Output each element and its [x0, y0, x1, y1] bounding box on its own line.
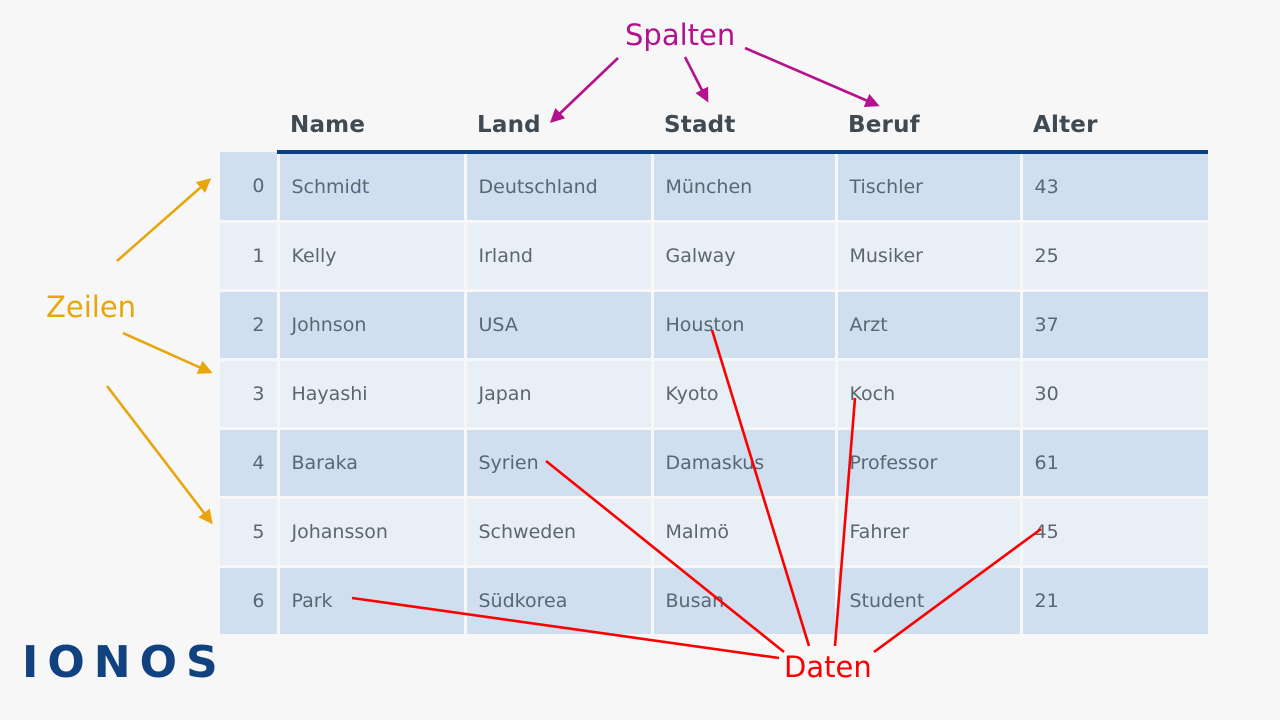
cell-alter[interactable]: 43: [1021, 152, 1208, 222]
cell-stadt[interactable]: Galway: [652, 222, 836, 291]
cell-land[interactable]: Deutschland: [465, 152, 652, 222]
cell-land[interactable]: Irland: [465, 222, 652, 291]
cell-name[interactable]: Hayashi: [278, 360, 465, 429]
dataframe-table: Name Land Stadt Beruf Alter 0 Schmidt De…: [220, 96, 1208, 634]
annotation-label-spalten: Spalten: [625, 18, 735, 52]
annotation-label-zeilen: Zeilen: [46, 290, 136, 324]
cell-stadt[interactable]: Busan: [652, 567, 836, 635]
zeilen-arrow-to-row-3: [123, 333, 210, 372]
column-header-beruf[interactable]: Beruf: [836, 96, 1021, 152]
cell-name[interactable]: Johansson: [278, 498, 465, 567]
cell-name[interactable]: Kelly: [278, 222, 465, 291]
column-header-name[interactable]: Name: [278, 96, 465, 152]
zeilen-arrow-to-row-0: [117, 180, 209, 261]
cell-alter[interactable]: 45: [1021, 498, 1208, 567]
slide-canvas: Name Land Stadt Beruf Alter 0 Schmidt De…: [0, 0, 1280, 720]
cell-land[interactable]: Japan: [465, 360, 652, 429]
cell-name[interactable]: Baraka: [278, 429, 465, 498]
cell-beruf[interactable]: Tischler: [836, 152, 1021, 222]
table-row[interactable]: 2 Johnson USA Houston Arzt 37: [220, 291, 1208, 360]
table-header-row: Name Land Stadt Beruf Alter: [220, 96, 1208, 152]
row-index-cell: 6: [220, 567, 278, 635]
spalten-arrow-to-stadt: [685, 57, 707, 100]
column-header-stadt[interactable]: Stadt: [652, 96, 836, 152]
zeilen-arrow-group: [107, 180, 211, 522]
cell-beruf[interactable]: Student: [836, 567, 1021, 635]
cell-land[interactable]: Südkorea: [465, 567, 652, 635]
cell-alter[interactable]: 21: [1021, 567, 1208, 635]
table-row[interactable]: 1 Kelly Irland Galway Musiker 25: [220, 222, 1208, 291]
cell-stadt[interactable]: München: [652, 152, 836, 222]
row-index-cell: 0: [220, 152, 278, 222]
cell-name[interactable]: Schmidt: [278, 152, 465, 222]
cell-beruf[interactable]: Fahrer: [836, 498, 1021, 567]
column-header-index: [220, 96, 278, 152]
zeilen-arrow-to-row-5: [107, 386, 211, 522]
cell-land[interactable]: Syrien: [465, 429, 652, 498]
ionos-logo: IONOS: [22, 641, 227, 685]
cell-stadt[interactable]: Kyoto: [652, 360, 836, 429]
row-index-cell: 4: [220, 429, 278, 498]
row-index-cell: 3: [220, 360, 278, 429]
table-row[interactable]: 6 Park Südkorea Busan Student 21: [220, 567, 1208, 635]
cell-stadt[interactable]: Houston: [652, 291, 836, 360]
row-index-cell: 1: [220, 222, 278, 291]
cell-alter[interactable]: 30: [1021, 360, 1208, 429]
dataframe-table-container: Name Land Stadt Beruf Alter 0 Schmidt De…: [220, 96, 1208, 634]
cell-beruf[interactable]: Arzt: [836, 291, 1021, 360]
cell-name[interactable]: Park: [278, 567, 465, 635]
cell-beruf[interactable]: Koch: [836, 360, 1021, 429]
column-header-land[interactable]: Land: [465, 96, 652, 152]
cell-beruf[interactable]: Musiker: [836, 222, 1021, 291]
cell-land[interactable]: USA: [465, 291, 652, 360]
table-row[interactable]: 5 Johansson Schweden Malmö Fahrer 45: [220, 498, 1208, 567]
table-body: 0 Schmidt Deutschland München Tischler 4…: [220, 152, 1208, 634]
cell-beruf[interactable]: Professor: [836, 429, 1021, 498]
row-index-cell: 2: [220, 291, 278, 360]
table-row[interactable]: 3 Hayashi Japan Kyoto Koch 30: [220, 360, 1208, 429]
cell-name[interactable]: Johnson: [278, 291, 465, 360]
cell-alter[interactable]: 25: [1021, 222, 1208, 291]
column-header-alter[interactable]: Alter: [1021, 96, 1208, 152]
annotation-label-daten: Daten: [784, 650, 872, 684]
cell-stadt[interactable]: Damaskus: [652, 429, 836, 498]
table-row[interactable]: 4 Baraka Syrien Damaskus Professor 61: [220, 429, 1208, 498]
cell-stadt[interactable]: Malmö: [652, 498, 836, 567]
cell-alter[interactable]: 37: [1021, 291, 1208, 360]
cell-land[interactable]: Schweden: [465, 498, 652, 567]
table-row[interactable]: 0 Schmidt Deutschland München Tischler 4…: [220, 152, 1208, 222]
row-index-cell: 5: [220, 498, 278, 567]
cell-alter[interactable]: 61: [1021, 429, 1208, 498]
